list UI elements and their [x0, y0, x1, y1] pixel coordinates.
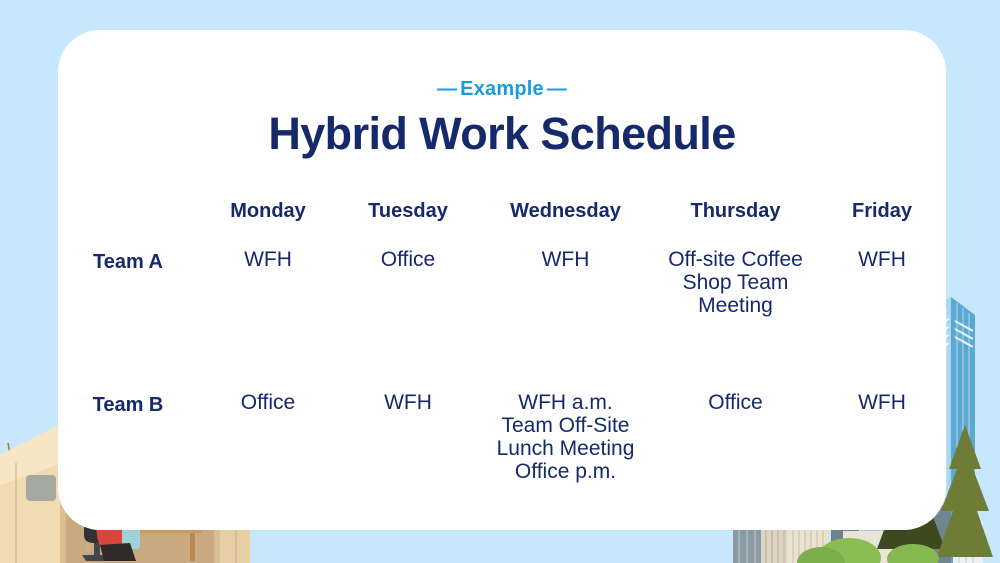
cell-team-a-thursday: Off-site CoffeeShop TeamMeeting: [653, 232, 818, 317]
cell-team-a-wednesday: WFH: [478, 232, 653, 317]
eyebrow-dash-left: —: [434, 78, 460, 101]
column-header-wednesday: Wednesday: [478, 190, 653, 232]
cell-team-b-friday: WFH: [818, 317, 946, 483]
cell-line: Office: [338, 248, 478, 271]
cell-line: WFH: [818, 391, 946, 414]
cell-line: WFH a.m.: [478, 391, 653, 414]
cell-team-b-thursday: Office: [653, 317, 818, 483]
column-header-thursday: Thursday: [653, 190, 818, 232]
hybrid-work-schedule-table: Monday Tuesday Wednesday Thursday Friday…: [58, 190, 946, 483]
cell-line: Office p.m.: [478, 460, 653, 483]
page-title: Hybrid Work Schedule: [58, 108, 946, 160]
table-row: Team A WFH Office WFH Off-site CoffeeSho…: [58, 232, 946, 317]
cell-team-a-monday: WFH: [198, 232, 338, 317]
cell-line: Off-site Coffee: [653, 248, 818, 271]
eyebrow-text: Example: [460, 78, 544, 100]
cell-team-b-wednesday: WFH a.m.Team Off-SiteLunch MeetingOffice…: [478, 317, 653, 483]
cell-team-a-tuesday: Office: [338, 232, 478, 317]
cell-line: Lunch Meeting: [478, 437, 653, 460]
cell-line: WFH: [338, 391, 478, 414]
schedule-card: —Example— Hybrid Work Schedule Monday Tu…: [58, 30, 946, 530]
column-header-friday: Friday: [818, 190, 946, 232]
eyebrow-dash-right: —: [544, 78, 570, 101]
cell-line: WFH: [818, 248, 946, 271]
cell-team-a-friday: WFH: [818, 232, 946, 317]
row-label-team-a: Team A: [58, 232, 198, 317]
table-header: Monday Tuesday Wednesday Thursday Friday: [58, 190, 946, 232]
column-header-tuesday: Tuesday: [338, 190, 478, 232]
table-row: Team B Office WFH WFH a.m.Team Off-SiteL…: [58, 317, 946, 483]
table-header-row: Monday Tuesday Wednesday Thursday Friday: [58, 190, 946, 232]
cell-line: Office: [653, 391, 818, 414]
column-header-monday: Monday: [198, 190, 338, 232]
header-corner: [58, 190, 198, 232]
table-body: Team A WFH Office WFH Off-site CoffeeSho…: [58, 232, 946, 483]
slide-canvas: —Example— Hybrid Work Schedule Monday Tu…: [0, 0, 1000, 563]
cell-line: WFH: [478, 248, 653, 271]
cell-team-b-tuesday: WFH: [338, 317, 478, 483]
cell-line: Team Off-Site: [478, 414, 653, 437]
cell-line: WFH: [198, 248, 338, 271]
cell-line: Office: [198, 391, 338, 414]
cell-line: Meeting: [653, 294, 818, 317]
cell-line: Shop Team: [653, 271, 818, 294]
cell-team-b-monday: Office: [198, 317, 338, 483]
eyebrow-label: —Example—: [58, 78, 946, 101]
row-label-team-b: Team B: [58, 317, 198, 483]
